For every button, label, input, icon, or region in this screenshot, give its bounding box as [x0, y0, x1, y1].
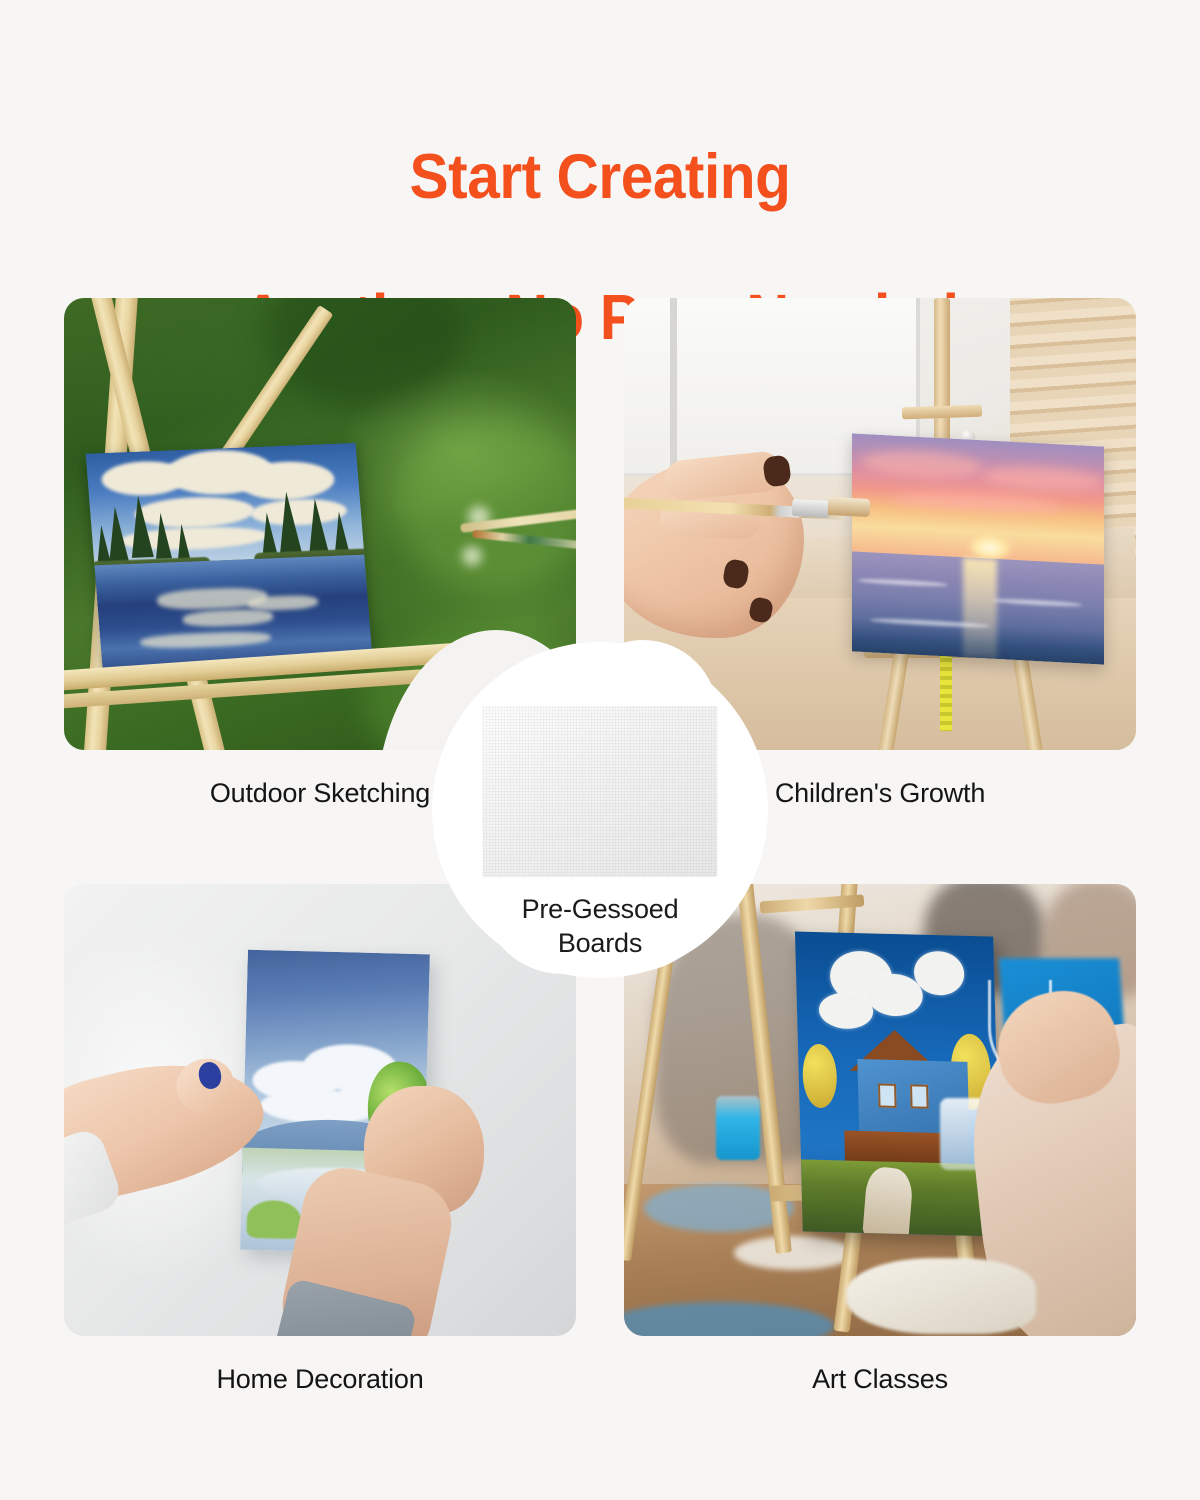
bokeh-dot — [462, 546, 482, 566]
blue-house-painting — [795, 931, 1001, 1236]
center-badge[interactable]: Pre-Gessoed Boards — [432, 642, 768, 978]
sunset-seascape-painting — [852, 433, 1104, 664]
paint-rag — [846, 1258, 1036, 1334]
art-classes-photo — [624, 884, 1136, 1336]
blue-paint-jar — [716, 1096, 760, 1160]
painting-grass — [246, 1200, 301, 1239]
painting-tree — [802, 1044, 838, 1109]
feature-card-label-home-decoration: Home Decoration — [64, 1364, 576, 1395]
paint-spill — [734, 1236, 854, 1270]
home-decoration-photo — [64, 884, 576, 1336]
painting-sun-glint — [963, 557, 997, 659]
window-mullion — [670, 298, 677, 473]
painting-house-window — [878, 1083, 897, 1107]
foliage-blur-2 — [394, 418, 576, 588]
feature-card-home-decoration[interactable]: Home Decoration — [64, 884, 576, 1395]
tabletop-easel-arm — [902, 405, 982, 420]
painting-path — [863, 1165, 914, 1237]
headline-line-1: Start Creating — [42, 142, 1158, 212]
center-badge-label: Pre-Gessoed Boards — [522, 892, 679, 960]
painting-house-window — [910, 1084, 929, 1108]
easel-ruler — [940, 653, 952, 731]
feature-card-label-art-classes: Art Classes — [624, 1364, 1136, 1395]
feature-card-art-classes[interactable]: Art Classes — [624, 884, 1136, 1395]
pre-gessoed-board-swatch — [483, 706, 717, 876]
paintbrush-ferrule — [792, 499, 831, 518]
paintbrush-bristles — [828, 497, 871, 517]
lake-landscape-painting — [86, 443, 373, 668]
